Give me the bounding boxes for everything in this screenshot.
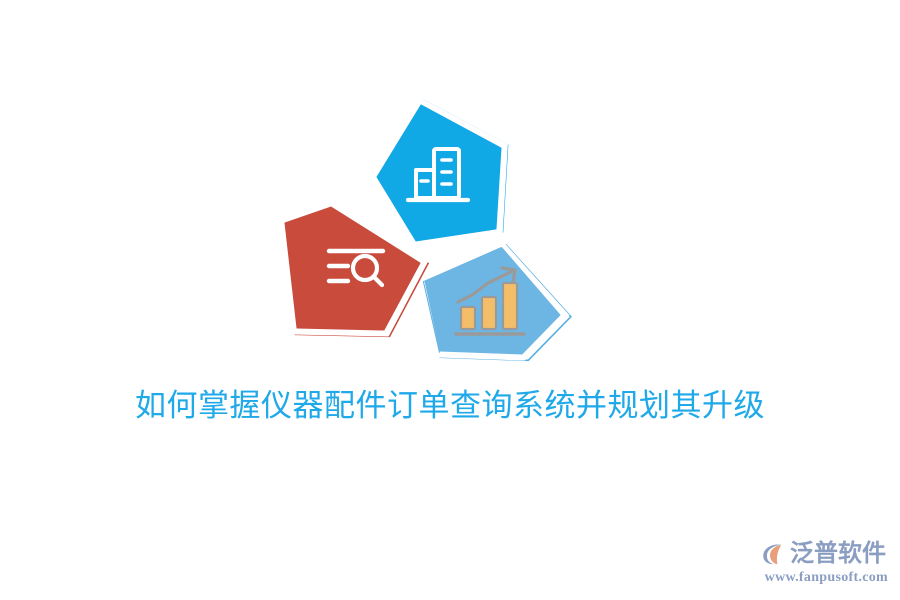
chart-bar-2 xyxy=(482,297,496,329)
watermark-brand-row: 泛普软件 xyxy=(758,536,888,570)
chart-bar-1 xyxy=(461,307,475,329)
page-canvas: 如何掌握仪器配件订单查询系统并规划其升级 泛普软件 www.fanpusoft.… xyxy=(0,0,900,600)
pentagon-blue-body xyxy=(377,105,501,241)
fanpu-logo-icon xyxy=(758,538,788,568)
pentagon-cluster-svg xyxy=(0,0,900,380)
watermark-brand-name: 泛普软件 xyxy=(790,538,886,568)
page-title: 如何掌握仪器配件订单查询系统并规划其升级 xyxy=(0,386,900,426)
hero-graphic xyxy=(0,0,900,380)
watermark-logo: 泛普软件 www.fanpusoft.com xyxy=(758,536,888,588)
pentagon-blue xyxy=(373,100,508,245)
watermark-url: www.fanpusoft.com xyxy=(758,570,888,586)
pentagon-lightblue xyxy=(420,244,571,360)
chart-bar-3 xyxy=(503,283,517,329)
